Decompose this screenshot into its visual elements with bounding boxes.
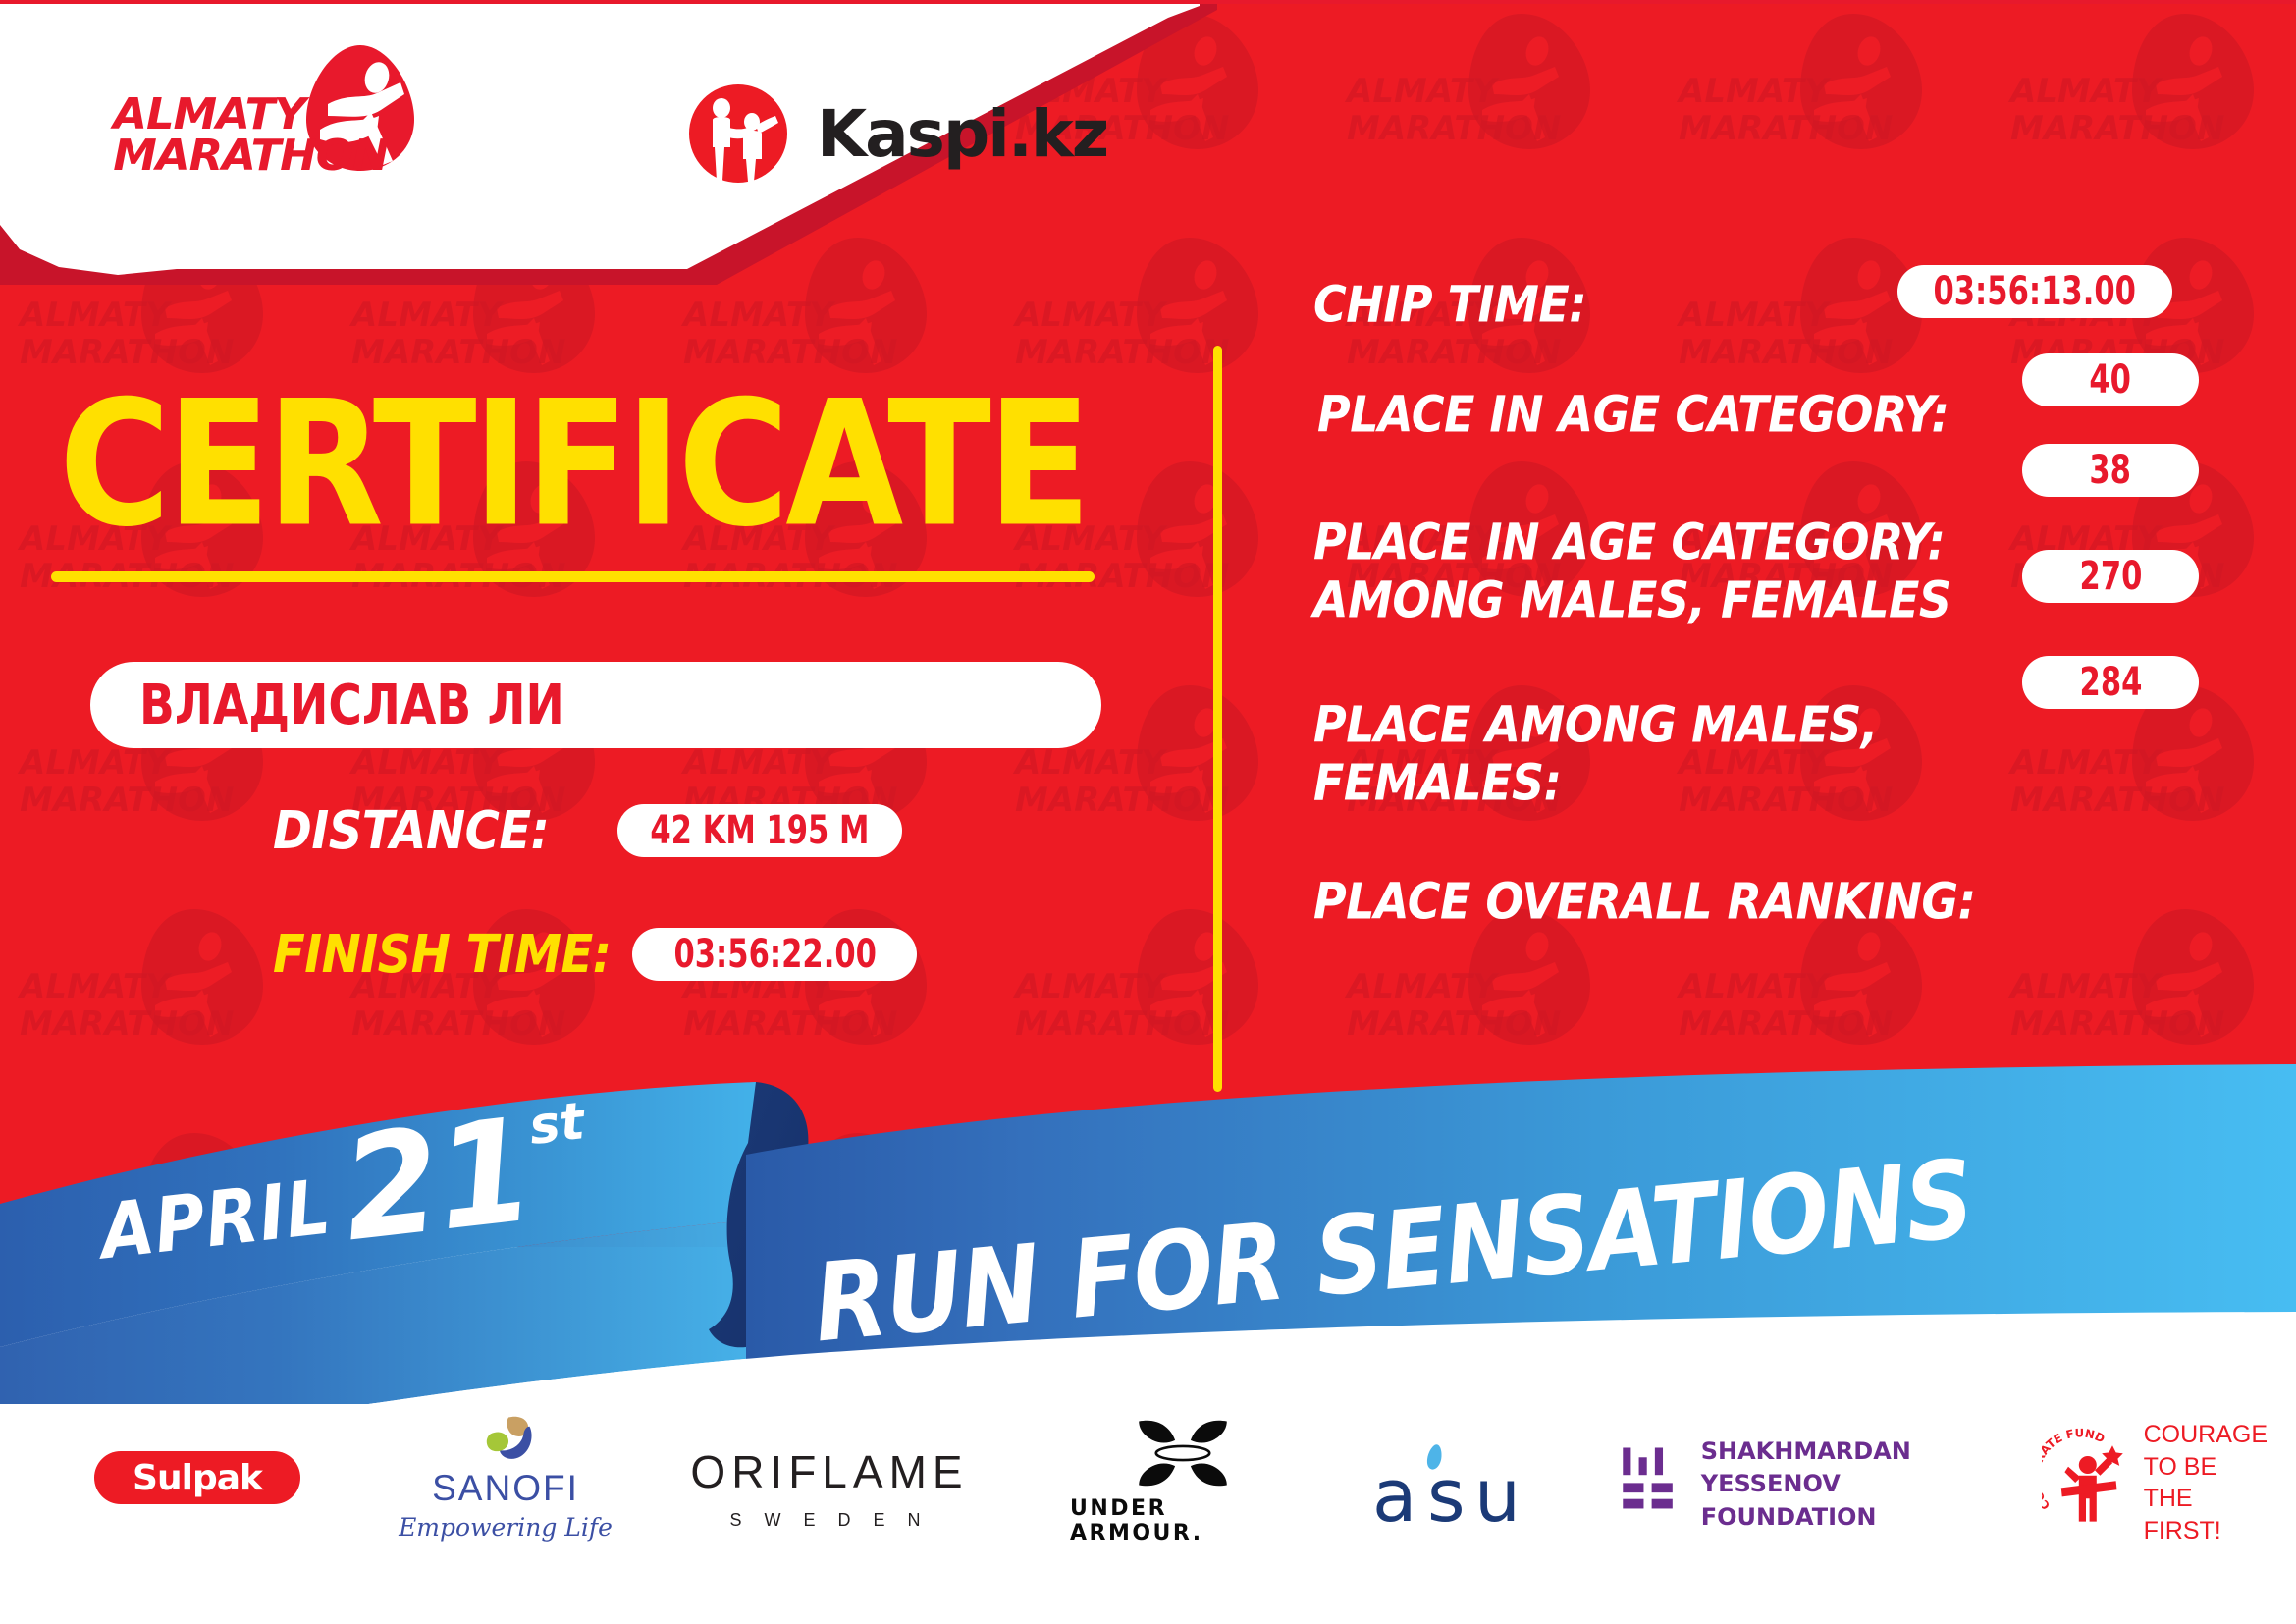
kaspi-family-circle-icon [687,82,789,185]
chip-time-value: 03:56:13.00 [1934,268,2136,314]
place-age-category-among-label: PLACE IN AGE CATEGORY: AMONG MALES, FEMA… [1313,513,1951,629]
event-day-ordinal: st [526,1092,587,1157]
distance-row: DISTANCE: 42 KM 195 M [273,803,902,858]
place-among-males-females-value-pill: 270 [2022,550,2199,603]
distance-value: 42 KM 195 M [651,807,870,853]
sponsor-under-armour: UNDER ARMOUR. [1070,1418,1296,1545]
place-overall-ranking-row: PLACE OVERALL RANKING: [1313,872,1976,925]
place-overall-ranking-label: PLACE OVERALL RANKING: [1313,872,1976,931]
sponsor-sulpak: Sulpak [94,1451,300,1504]
logo-line-2: MARATHON [113,135,388,177]
under-armour-logo-icon [1125,1418,1241,1489]
place-age-category-among-value-pill: 38 [2022,444,2199,497]
finish-time-value: 03:56:22.00 [673,931,876,977]
sponsor-strip: Sulpak SANOFI Empowering Life ORIFLAME S… [0,1404,2296,1624]
logo-line-1: ALMATY [113,94,388,135]
place-among-males-females-value: 270 [2079,553,2142,599]
column-divider [1213,346,1222,1092]
participant-name-value: ВЛАДИСЛАВ ЛИ [139,674,564,737]
yessenov-wordmark: SHAKHMARDAN YESSENOV FOUNDATION [1701,1435,1993,1533]
yessenov-mark-icon [1620,1437,1678,1532]
chip-time-value-pill: 03:56:13.00 [1897,265,2172,318]
place-age-category-among-row: PLACE IN AGE CATEGORY: AMONG MALES, FEMA… [1313,513,1951,620]
sanofi-bird-icon [460,1416,551,1464]
sponsor-sanofi: SANOFI Empowering Life [393,1416,618,1542]
courage-tagline: COURAGE TO BE THE FIRST! [2144,1419,2268,1546]
svg-text:u: u [1474,1454,1521,1531]
event-day: 21 [338,1113,537,1251]
place-age-category-among-value: 38 [2090,447,2132,493]
oriflame-wordmark: ORIFLAME [690,1445,968,1498]
place-among-males-females-row: PLACE AMONG MALES, FEMALES: [1313,695,1878,802]
place-age-category-label: PLACE IN AGE CATEGORY: [1317,385,1949,444]
sanofi-tagline: Empowering Life [399,1513,613,1542]
finish-time-label: FINISH TIME: [273,924,611,986]
asu-logo-icon: a s u [1370,1436,1545,1531]
oriflame-tagline: S W E D E N [729,1510,929,1531]
sponsor-asu: a s u [1369,1430,1546,1538]
chip-time-label: CHIP TIME: [1313,275,1586,334]
sanofi-wordmark: SANOFI [432,1468,579,1509]
place-age-category-value-pill: 40 [2022,353,2199,406]
header-logos: ALMATY MARATHON Kaspi.kz [0,4,1196,275]
finish-time-row: FINISH TIME: 03:56:22.00 [273,927,917,982]
kaspi-wordmark: Kaspi.kz [817,96,1107,172]
svg-text:a: a [1372,1454,1416,1531]
sponsor-courage-to-be-the-first: CORPORATE FUND COURAGE TO BE THE FIRST! [2042,1414,2268,1551]
chip-time-row: CHIP TIME: [1313,275,1586,328]
finish-time-value-pill: 03:56:22.00 [632,928,917,981]
place-age-category-row: PLACE IN AGE CATEGORY: [1317,385,1949,438]
distance-label: DISTANCE: [273,800,549,862]
place-overall-ranking-value: 284 [2079,659,2142,705]
almaty-marathon-logo: ALMATY MARATHON [116,51,440,189]
almaty-marathon-wordmark: ALMATY MARATHON [113,94,388,177]
sponsor-oriflame: ORIFLAME S W E D E N [687,1434,972,1542]
kaspi-logo: Kaspi.kz [687,82,1107,185]
page-title: CERTIFICATE [59,378,1088,551]
distance-value-pill: 42 KM 195 M [617,804,902,857]
place-overall-ranking-value-pill: 284 [2022,656,2199,709]
place-among-males-females-label: PLACE AMONG MALES, FEMALES: [1313,695,1878,812]
certificate-canvas: ALMATY MARATHON ALMATY MA [0,0,2296,1624]
courage-fund-icon: CORPORATE FUND [2042,1424,2134,1542]
sponsor-yessenov-foundation: SHAKHMARDAN YESSENOV FOUNDATION [1620,1424,1993,1545]
under-armour-wordmark: UNDER ARMOUR. [1070,1496,1296,1545]
participant-name-field: ВЛАДИСЛАВ ЛИ [90,662,1101,748]
svg-text:s: s [1427,1454,1466,1531]
place-age-category-value: 40 [2090,356,2132,403]
title-underline [51,571,1095,582]
